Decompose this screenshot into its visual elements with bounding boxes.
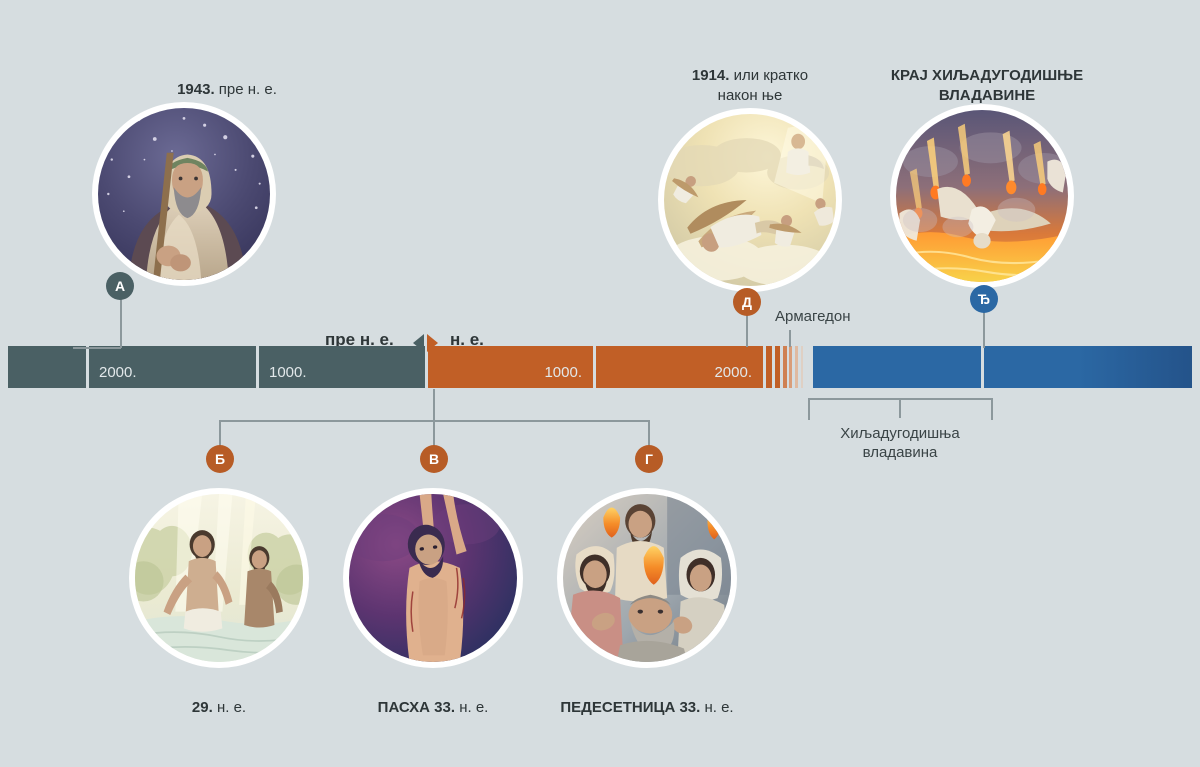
bar-segment-armageddon-fade	[766, 346, 811, 388]
final-test-fire-from-heaven-icon	[896, 110, 1068, 282]
bar-segment-bce-3000[interactable]	[8, 346, 86, 388]
satan-cast-down-from-heaven-icon	[664, 114, 836, 286]
marker-a[interactable]: А	[106, 272, 134, 300]
caption-d-rest: или кратко након ње	[718, 67, 808, 104]
photo-pentecost	[557, 488, 737, 668]
bar-segment-ce-1000[interactable]: 1000.	[428, 346, 593, 388]
caption-a-rest: пре н. е.	[215, 81, 277, 98]
photo-inner	[896, 110, 1068, 282]
bar-segment-ce-1000-label: 1000.	[544, 364, 582, 381]
photo-inner	[98, 108, 270, 280]
marker-g[interactable]: Г	[635, 445, 663, 473]
marker-dje[interactable]: Ђ	[970, 285, 998, 313]
armageddon-tick	[789, 330, 791, 347]
bar-segment-millennium-2[interactable]	[984, 346, 1192, 388]
abraham-counting-stars-icon	[98, 108, 270, 280]
bar-segment-bce-1000[interactable]: 1000.	[259, 346, 425, 388]
armageddon-label: Армагедон	[775, 308, 851, 325]
bottom-stem	[433, 389, 435, 421]
leader-line-a-horizontal	[73, 347, 121, 349]
leader-line-g	[648, 420, 650, 446]
baptism-of-jesus-icon	[135, 494, 303, 662]
timeline-infographic: 1943. пре н. е. 1914. или кратко након њ…	[0, 0, 1200, 767]
bar-segment-ce-2000-label: 2000.	[714, 364, 752, 381]
leader-line-b	[219, 420, 221, 446]
marker-v[interactable]: В	[420, 445, 448, 473]
caption-g-rest: н. е.	[700, 699, 733, 716]
photo-abraham-counting-stars	[92, 102, 276, 286]
photo-inner	[664, 114, 836, 286]
caption-dje-bold: КРАЈ ХИЉАДУГОДИШЊЕ ВЛАДАВИНЕ	[891, 67, 1083, 104]
photo-inner	[563, 494, 731, 662]
photo-satan-cast-down	[658, 108, 842, 292]
caption-event-a: 1943. пре н. е.	[32, 60, 422, 100]
marker-b[interactable]: Б	[206, 445, 234, 473]
photo-baptism-of-jesus	[129, 488, 309, 668]
timeline-bar: 2000. 1000. 1000. 2000.	[0, 346, 1200, 388]
bar-segment-bce-2000[interactable]: 2000.	[89, 346, 256, 388]
leader-line-a	[120, 292, 122, 348]
bar-segment-bce-1000-label: 1000.	[269, 364, 307, 381]
caption-b-bold: 29.	[192, 699, 213, 716]
caption-b-rest: н. е.	[213, 699, 246, 716]
caption-event-v: ПАСХА 33. н. е.	[343, 678, 523, 718]
caption-v-bold: ПАСХА 33.	[378, 699, 455, 716]
photo-final-test	[890, 104, 1074, 288]
bar-segment-millennium-1[interactable]	[813, 346, 981, 388]
caption-d-bold: 1914.	[692, 67, 730, 84]
millennium-bracket	[808, 390, 993, 420]
photo-inner	[349, 494, 517, 662]
photo-death-of-jesus	[343, 488, 523, 668]
leader-line-v	[433, 420, 435, 446]
caption-v-rest: н. е.	[455, 699, 488, 716]
caption-event-dje: КРАЈ ХИЉАДУГОДИШЊЕ ВЛАДАВИНЕ	[862, 46, 1112, 106]
pentecost-icon	[563, 494, 731, 662]
marker-d[interactable]: Д	[733, 288, 761, 316]
caption-event-g: ПЕДЕСЕТНИЦА 33. н. е.	[549, 678, 745, 718]
caption-g-bold: ПЕДЕСЕТНИЦА 33.	[560, 699, 700, 716]
death-of-jesus-icon	[349, 494, 517, 662]
caption-a-bold: 1943.	[177, 81, 215, 98]
bar-segment-ce-2000[interactable]: 2000.	[596, 346, 763, 388]
caption-event-b: 29. н. е.	[129, 678, 309, 718]
photo-inner	[135, 494, 303, 662]
bar-segment-bce-2000-label: 2000.	[99, 364, 137, 381]
millennium-label: Хиљадугодишња владавина	[790, 424, 1010, 462]
caption-event-d: 1914. или кратко након ње	[630, 46, 870, 106]
